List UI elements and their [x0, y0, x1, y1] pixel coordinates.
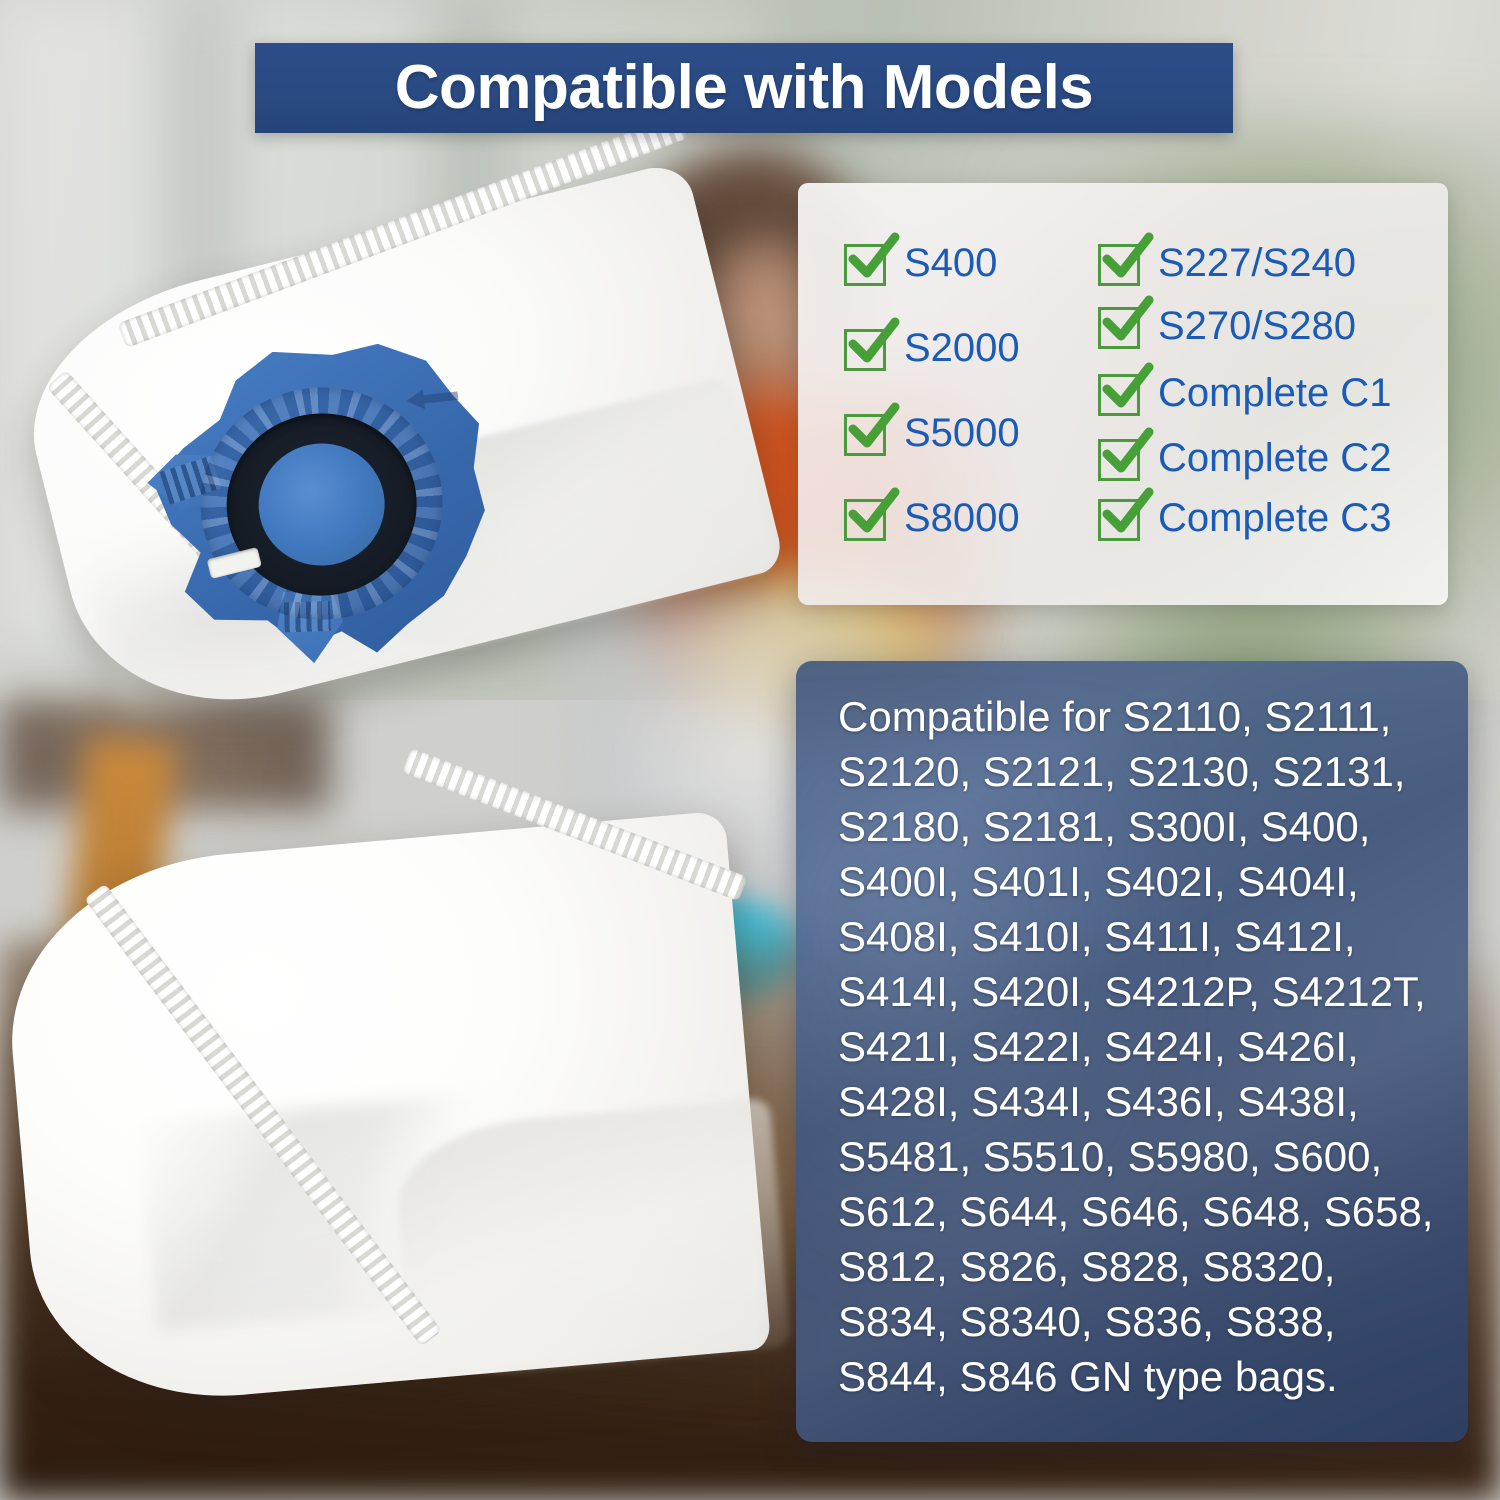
checkbox-checked-icon[interactable]: [1098, 240, 1144, 286]
checkbox-checked-icon[interactable]: [844, 410, 890, 456]
compatibility-line: Compatible for S2110, S2111,: [838, 689, 1454, 744]
checkbox-checked-icon[interactable]: [1098, 435, 1144, 481]
vacuum-bag-plain: [0, 765, 836, 1474]
checklist-item-label: S8000: [904, 498, 1020, 538]
compatibility-line: S812, S826, S828, S8320,: [838, 1239, 1454, 1294]
compatibility-line: S2120, S2121, S2130, S2131,: [838, 744, 1454, 799]
header-banner: Compatible with Models: [255, 43, 1233, 133]
checklist-item-label: S400: [904, 243, 997, 283]
checklist-item-label: S5000: [904, 413, 1020, 453]
compatibility-line: S844, S846 GN type bags.: [838, 1349, 1454, 1404]
checkbox-checked-icon[interactable]: [1098, 303, 1144, 349]
compatibility-line: S414I, S420I, S4212P, S4212T,: [838, 964, 1454, 1019]
compatibility-line: S834, S8340, S836, S838,: [838, 1294, 1454, 1349]
compatibility-line: S421I, S422I, S424I, S426I,: [838, 1019, 1454, 1074]
checkbox-checked-icon[interactable]: [844, 325, 890, 371]
checklist-item-s5000[interactable]: S5000: [844, 404, 1020, 462]
checklist-item-label: S270/S280: [1158, 306, 1356, 346]
checklist-item-label: Complete C3: [1158, 498, 1391, 538]
compatibility-text: Compatible for S2110, S2111, S2120, S212…: [838, 689, 1454, 1404]
compatibility-details-panel: Compatible for S2110, S2111, S2120, S212…: [796, 661, 1468, 1442]
checkbox-checked-icon[interactable]: [844, 495, 890, 541]
checklist-item-label: Complete C1: [1158, 373, 1391, 413]
checklist-item-s2000[interactable]: S2000: [844, 319, 1020, 377]
checkbox-checked-icon[interactable]: [1098, 370, 1144, 416]
checklist-item-s270-s280[interactable]: S270/S280: [1098, 297, 1356, 355]
checklist-item-label: S2000: [904, 328, 1020, 368]
checkbox-checked-icon[interactable]: [1098, 495, 1144, 541]
checklist-item-s8000[interactable]: S8000: [844, 489, 1020, 547]
compatibility-line: S612, S644, S646, S648, S658,: [838, 1184, 1454, 1239]
checklist-item-complete-c2[interactable]: Complete C2: [1098, 429, 1391, 487]
compatibility-line: S408I, S410I, S411I, S412I,: [838, 909, 1454, 964]
compatibility-line: S5481, S5510, S5980, S600,: [838, 1129, 1454, 1184]
compatibility-line: S400I, S401I, S402I, S404I,: [838, 854, 1454, 909]
blue-collar: [141, 331, 502, 674]
page-title: Compatible with Models: [395, 57, 1094, 119]
checklist-item-s400[interactable]: S400: [844, 234, 997, 292]
compatibility-line: S2180, S2181, S300I, S400,: [838, 799, 1454, 854]
bag-fold: [391, 1098, 791, 1380]
infographic-canvas: Compatible with Models S400: [0, 0, 1500, 1500]
checklist-item-s227-s240[interactable]: S227/S240: [1098, 234, 1356, 292]
checklist-item-label: S227/S240: [1158, 243, 1356, 283]
compatibility-line: S428I, S434I, S436I, S438I,: [838, 1074, 1454, 1129]
checklist-item-complete-c1[interactable]: Complete C1: [1098, 364, 1391, 422]
checkbox-checked-icon[interactable]: [844, 240, 890, 286]
checklist-item-label: Complete C2: [1158, 438, 1391, 478]
compatible-models-checklist-panel: S400 S2000: [798, 183, 1448, 605]
checklist-item-complete-c3[interactable]: Complete C3: [1098, 489, 1391, 547]
